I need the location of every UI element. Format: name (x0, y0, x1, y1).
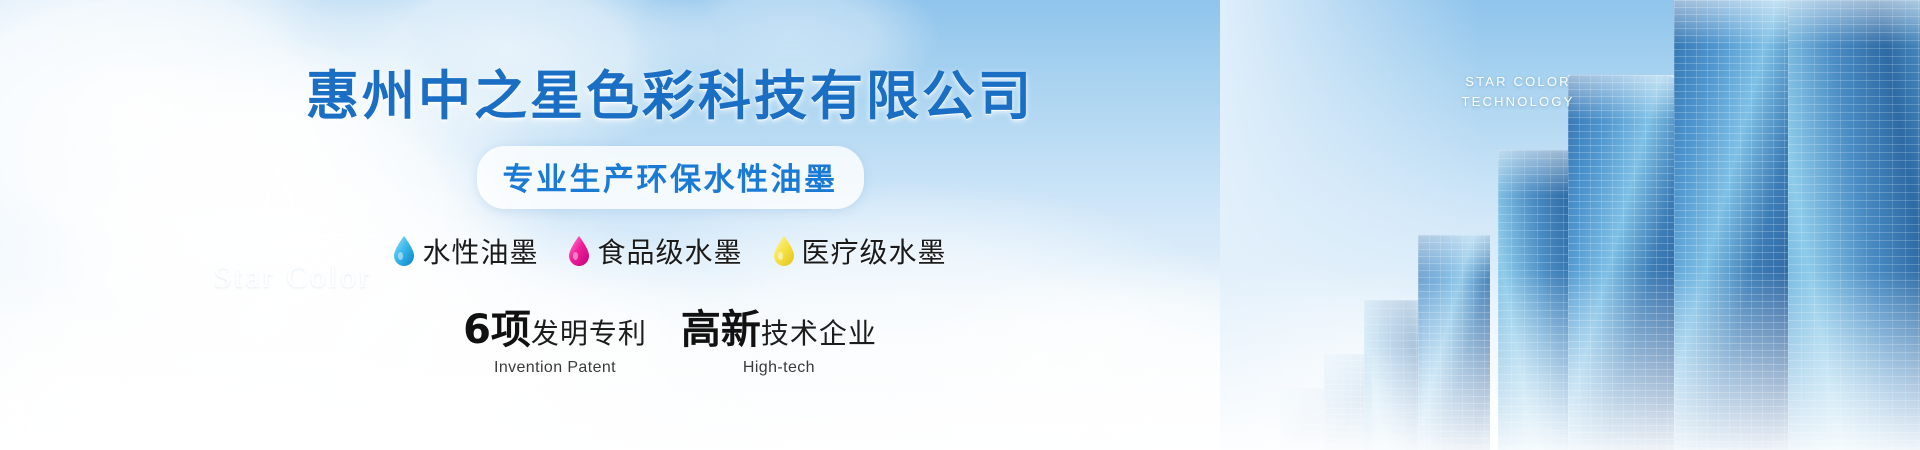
badge-high-tech: 高新 技术企业 High-tech (681, 297, 877, 377)
credential-badges: 6项 发明专利 Invention Patent 高新 技术企业 High-te… (463, 297, 877, 377)
badge-english-label: Invention Patent (494, 359, 616, 377)
building-shape (1418, 235, 1490, 450)
promo-banner: Star Color STAR COLOR TECHNOLOGY 惠州中之星色彩… (0, 0, 1920, 450)
water-drop-icon (568, 236, 590, 266)
feature-list: 水性油墨 食品级水墨 (393, 231, 946, 271)
badge-line: 高新 技术企业 (681, 297, 877, 355)
badge-count: 高新 (681, 297, 761, 355)
banner-content: 惠州中之星色彩科技有限公司 专业生产环保水性油墨 水性油墨 (0, 0, 1340, 450)
badge-invention-patent: 6项 发明专利 Invention Patent (463, 297, 647, 377)
building-shape (1568, 75, 1688, 450)
company-name-heading: 惠州中之星色彩科技有限公司 (306, 54, 1034, 130)
feature-item-medical-grade-ink: 医疗级水墨 (773, 231, 947, 271)
badge-english-label: High-tech (743, 359, 815, 377)
feature-label: 医疗级水墨 (802, 231, 947, 271)
feature-label: 水性油墨 (422, 231, 538, 271)
feature-label: 食品级水墨 (597, 231, 742, 271)
water-drop-icon (773, 236, 795, 266)
subtitle-pill-text: 专业生产环保水性油墨 (503, 162, 838, 198)
building-shape (1674, 0, 1800, 450)
building-shape (1364, 300, 1422, 450)
subtitle-pill: 专业生产环保水性油墨 (477, 146, 864, 209)
badge-line: 6项 发明专利 (463, 297, 647, 355)
water-drop-icon (393, 236, 415, 266)
feature-item-water-based-ink: 水性油墨 (393, 231, 538, 271)
badge-label: 技术企业 (761, 312, 877, 352)
badge-count: 6项 (463, 297, 531, 355)
building-shape (1788, 0, 1920, 450)
badge-label: 发明专利 (531, 312, 647, 352)
feature-item-food-grade-ink: 食品级水墨 (568, 231, 742, 271)
